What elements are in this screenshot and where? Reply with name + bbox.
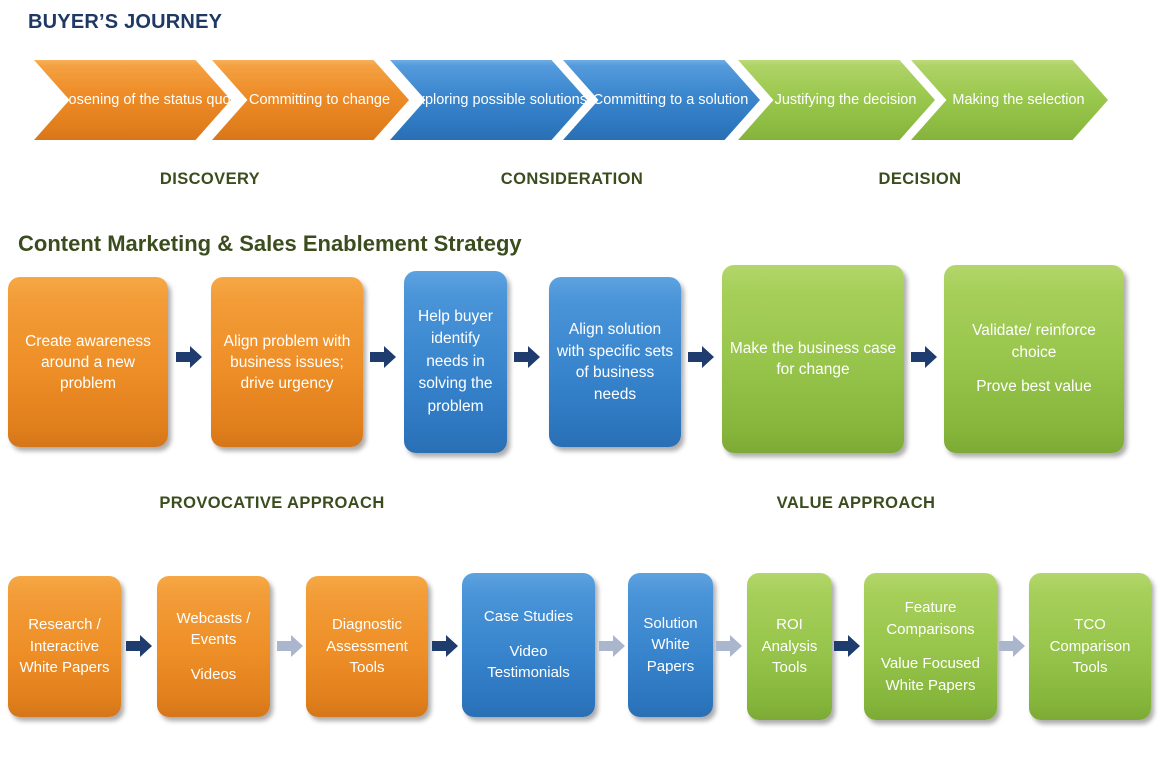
stage-label-consideration: CONSIDERATION [482,170,662,189]
asset-arrow-7 [999,634,1025,658]
asset-box-2-label: Webcasts / Events [177,610,251,649]
asset-arrow-4 [599,634,625,658]
asset-arrow-6 [834,634,860,658]
asset-box-7-label-2: Value Focused White Papers [881,655,980,694]
asset-box-4-label-2: Video Testimonials [487,643,570,682]
asset-box-4[interactable]: Case Studies Video Testimonials [462,573,595,717]
journey-stage-5[interactable]: Justifying the decision [738,60,935,140]
page-title-buyers-journey: BUYER’S JOURNEY [28,11,222,34]
strategy-box-4-label: Align solution with specific sets of bus… [549,319,681,405]
asset-box-8-label: TCO Comparison Tools [1029,614,1151,679]
strategy-arrow-4 [688,345,714,369]
approach-label-provocative: PROVOCATIVE APPROACH [132,494,412,513]
asset-box-7[interactable]: Feature Comparisons Value Focused White … [864,573,997,720]
stage-label-discovery: DISCOVERY [120,170,300,189]
diagram-canvas: BUYER’S JOURNEY Loosening of the status … [0,0,1165,764]
journey-stage-6[interactable]: Making the selection [911,60,1108,140]
asset-arrow-3 [432,634,458,658]
spacer [163,651,264,664]
journey-stage-4[interactable]: Committing to a solution [563,60,760,140]
approach-label-value: VALUE APPROACH [766,494,946,513]
asset-arrow-2 [277,634,303,658]
asset-box-1[interactable]: Research / Interactive White Papers [8,576,121,717]
asset-arrow-5 [716,634,742,658]
journey-stage-2[interactable]: Committing to change [212,60,409,140]
spacer [870,640,991,653]
asset-box-1-label: Research / Interactive White Papers [8,614,121,679]
journey-stage-4-label: Committing to a solution [591,92,751,109]
journey-stage-6-label: Making the selection [950,92,1086,109]
asset-box-6[interactable]: ROI Analysis Tools [747,573,832,720]
asset-arrow-1 [126,634,152,658]
journey-stage-5-label: Justifying the decision [773,92,919,109]
journey-stage-3-label: Exploring possible solutions [406,92,589,109]
section-title-strategy: Content Marketing & Sales Enablement Str… [18,231,522,257]
asset-box-6-label: ROI Analysis Tools [747,614,832,679]
asset-box-3[interactable]: Diagnostic Assessment Tools [306,576,428,717]
strategy-box-1[interactable]: Create awareness around a new problem [8,277,168,447]
asset-box-8[interactable]: TCO Comparison Tools [1029,573,1151,720]
journey-stage-1[interactable]: Loosening of the status quo [34,60,231,140]
strategy-arrow-3 [514,345,540,369]
asset-box-3-label: Diagnostic Assessment Tools [306,614,428,679]
strategy-arrow-2 [370,345,396,369]
strategy-box-4[interactable]: Align solution with specific sets of bus… [549,277,681,447]
spacer [950,363,1118,376]
strategy-arrow-5 [911,345,937,369]
strategy-box-3-label: Help buyer identify needs in solving the… [404,306,507,419]
spacer [468,628,589,641]
strategy-box-5-label: Make the business case for change [722,338,904,381]
stage-label-decision: DECISION [830,170,1010,189]
journey-stage-2-label: Committing to change [247,92,392,109]
strategy-box-6[interactable]: Validate/ reinforce choice Prove best va… [944,265,1124,453]
strategy-box-2-label: Align problem with business issues; driv… [211,331,363,394]
strategy-box-5[interactable]: Make the business case for change [722,265,904,453]
journey-stage-1-label: Loosening of the status quo [50,92,232,109]
asset-box-5[interactable]: Solution White Papers [628,573,713,717]
asset-box-7-label: Feature Comparisons [886,599,974,638]
asset-box-2[interactable]: Webcasts / Events Videos [157,576,270,717]
asset-box-2-label-2: Videos [191,666,237,683]
journey-stage-3[interactable]: Exploring possible solutions [390,60,587,140]
asset-box-4-label: Case Studies [484,608,573,625]
strategy-box-2[interactable]: Align problem with business issues; driv… [211,277,363,447]
asset-box-5-label: Solution White Papers [628,613,713,678]
strategy-box-3[interactable]: Help buyer identify needs in solving the… [404,271,507,453]
strategy-box-6-label-2: Prove best value [976,378,1091,395]
strategy-arrow-1 [176,345,202,369]
strategy-box-6-label: Validate/ reinforce choice [972,322,1096,361]
strategy-box-1-label: Create awareness around a new problem [8,331,168,394]
